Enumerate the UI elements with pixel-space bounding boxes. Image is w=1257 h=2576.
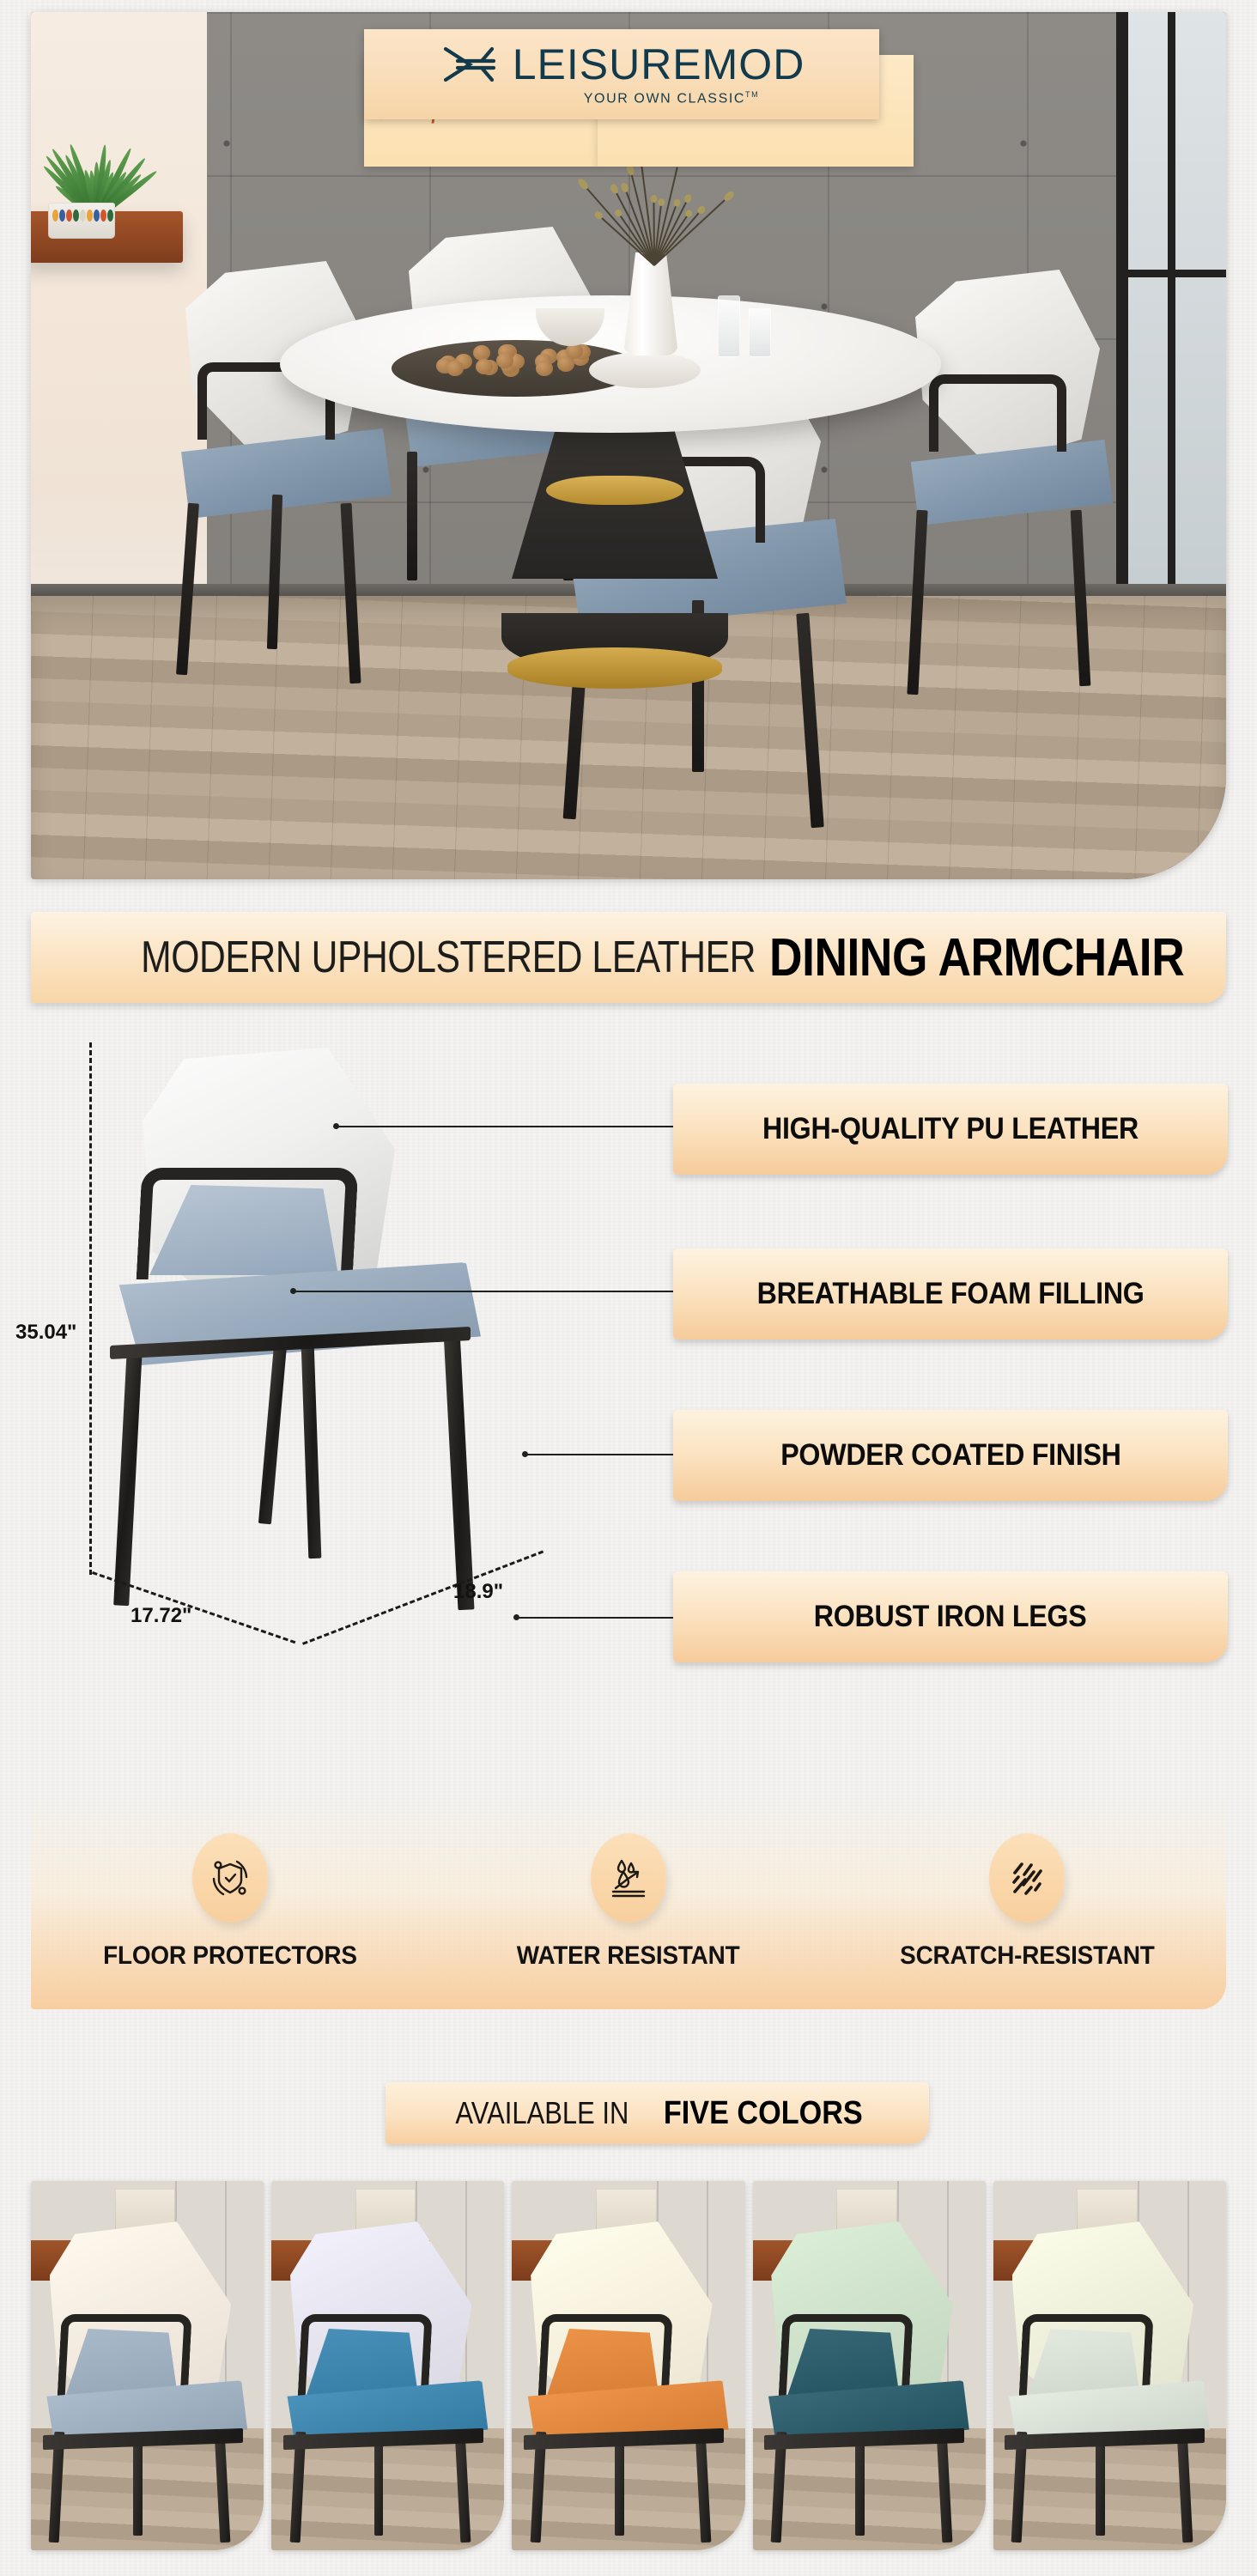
benefit-label: SCRATCH-RESISTANT [900,1941,1154,1971]
title-bold: DINING ARMCHAIR [769,927,1184,988]
depth-dim-label: 17.72" [131,1604,191,1628]
shield-check-icon [192,1833,268,1923]
feature-label: POWDER COATED FINISH [780,1438,1120,1473]
features-section: 35.04" 17.72" 18.9" HIGH-QUALITY PU LEAT… [0,1013,1257,1786]
benefits-band: FLOOR PROTECTORS WATER RESISTANT [31,1795,1226,2009]
feature-label: HIGH-QUALITY PU LEATHER [762,1112,1139,1146]
leader-line-1 [337,1126,673,1127]
drinking-glass [749,307,771,357]
benefit-scratch-resistant: SCRATCH-RESISTANT [864,1833,1190,1971]
marble-plate [589,352,701,388]
hero-lifestyle-image: But first, coffee! LEIS [31,12,1226,879]
chair-leg-rear-left [258,1344,287,1525]
color-swatch-cream-orange[interactable] [512,2181,744,2550]
benefit-label: WATER RESISTANT [517,1941,740,1971]
benefit-water-resistant: WATER RESISTANT [465,1833,792,1971]
swatch-chair-leg-mid [374,2439,384,2536]
water-droplet-repel-icon [591,1833,666,1923]
brand-logo-banner: LEISUREMOD YOUR OWN CLASSICTM [364,29,879,119]
color-swatch-mint-teal[interactable] [753,2181,986,2550]
chair-leg-front-right [444,1331,475,1611]
brand-tagline: YOUR OWN CLASSICTM [584,90,760,106]
benefit-label: FLOOR PROTECTORS [103,1941,357,1971]
title-light: MODERN UPHOLSTERED LEATHER [141,932,756,983]
scratch-lines-icon [989,1833,1065,1923]
leader-line-3 [525,1454,673,1455]
colors-banner-bold: FIVE COLORS [663,2095,862,2132]
leader-line-4 [517,1617,673,1619]
patterned-pot [48,203,115,239]
width-dim-label: 18.9" [453,1580,503,1604]
swatch-chair-leg-mid [133,2439,143,2536]
infographic-page: But first, coffee! LEIS [0,0,1257,2576]
swatch-chair-leg-mid [855,2439,865,2536]
product-title-bar: MODERN UPHOLSTERED LEATHER DINING ARMCHA… [31,912,1226,1003]
water-carafe [718,295,740,357]
feature-label: ROBUST IRON LEGS [814,1600,1087,1634]
colors-banner-light: AVAILABLE IN [455,2095,628,2131]
brand-name: LEISUREMOD [513,43,805,86]
swatch-chair-leg-mid [615,2439,624,2536]
product-chair-diagram [103,1048,584,1683]
chair-leg-rear-right [301,1344,322,1558]
chair-logo-icon [439,42,501,87]
table-gold-ring [546,476,683,505]
chair-leg-front-left [113,1348,143,1607]
leader-line-2 [294,1291,673,1292]
feature-label: BREATHABLE FOAM FILLING [757,1277,1145,1311]
benefit-floor-protectors: FLOOR PROTECTORS [67,1833,393,1971]
hero-chair-right [898,270,1164,750]
available-colors-banner: AVAILABLE IN FIVE COLORS [386,2082,929,2144]
color-swatch-white-blue[interactable] [271,2181,504,2550]
table-gold-foot [507,647,722,689]
feature-pill-iron-legs: ROBUST IRON LEGS [673,1571,1228,1662]
swatch-chair-leg-mid [1096,2439,1105,2536]
feature-pill-pu-leather: HIGH-QUALITY PU LEATHER [673,1084,1228,1175]
color-swatch-cream-grey[interactable] [31,2181,264,2550]
feature-pill-foam-filling: BREATHABLE FOAM FILLING [673,1249,1228,1340]
color-swatch-row [31,2181,1226,2550]
feature-pill-powder-coated: POWDER COATED FINISH [673,1410,1228,1501]
height-dim-line [89,1042,92,1575]
color-swatch-ivory-sage[interactable] [993,2181,1226,2550]
height-dim-label: 35.04" [15,1321,76,1345]
